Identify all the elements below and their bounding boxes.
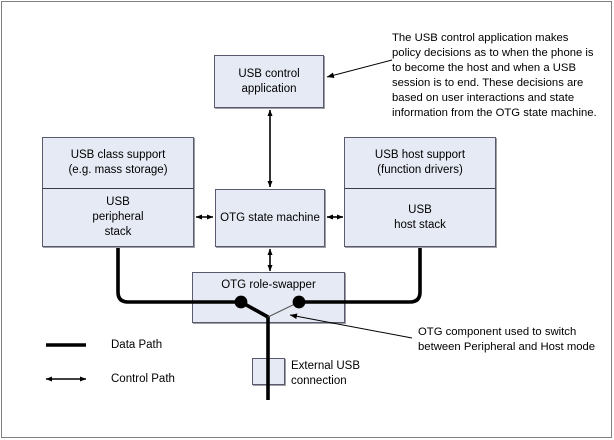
- note-usb-control-application: The USB control application makes policy…: [392, 31, 600, 121]
- external-usb-connection-label: External USBconnection: [291, 359, 381, 389]
- box-usb-peripheral-stack[interactable]: USBperipheralstack: [42, 189, 194, 247]
- box-usb-host-support-label: USB host support(function drivers): [375, 148, 465, 177]
- box-usb-host-support[interactable]: USB host support(function drivers): [344, 137, 496, 189]
- box-usb-control-application-label: USB controlapplication: [238, 67, 299, 96]
- box-usb-peripheral-stack-label: USBperipheralstack: [92, 195, 143, 239]
- box-usb-host-stack[interactable]: USBhost stack: [344, 189, 496, 247]
- leader-line-control-application: [327, 60, 392, 77]
- diagram-canvas: USB controlapplication USB class support…: [0, 0, 614, 440]
- box-otg-state-machine[interactable]: OTG state machine: [215, 189, 325, 247]
- box-otg-role-swapper[interactable]: OTG role-swapper: [192, 272, 345, 323]
- box-usb-class-support[interactable]: USB class support(e.g. mass storage): [42, 137, 194, 189]
- box-otg-role-swapper-label: OTG role-swapper: [221, 278, 316, 293]
- box-usb-host-stack-label: USBhost stack: [394, 203, 446, 232]
- box-usb-class-support-label: USB class support(e.g. mass storage): [68, 148, 167, 177]
- box-otg-state-machine-label: OTG state machine: [220, 211, 320, 226]
- legend-label-data-path: Data Path: [111, 339, 162, 351]
- legend-label-control-path: Control Path: [111, 373, 175, 385]
- note-otg-role-swapper: OTG component used to switch between Per…: [418, 325, 603, 355]
- box-usb-control-application[interactable]: USB controlapplication: [214, 55, 324, 108]
- box-external-usb-connector[interactable]: [252, 358, 285, 385]
